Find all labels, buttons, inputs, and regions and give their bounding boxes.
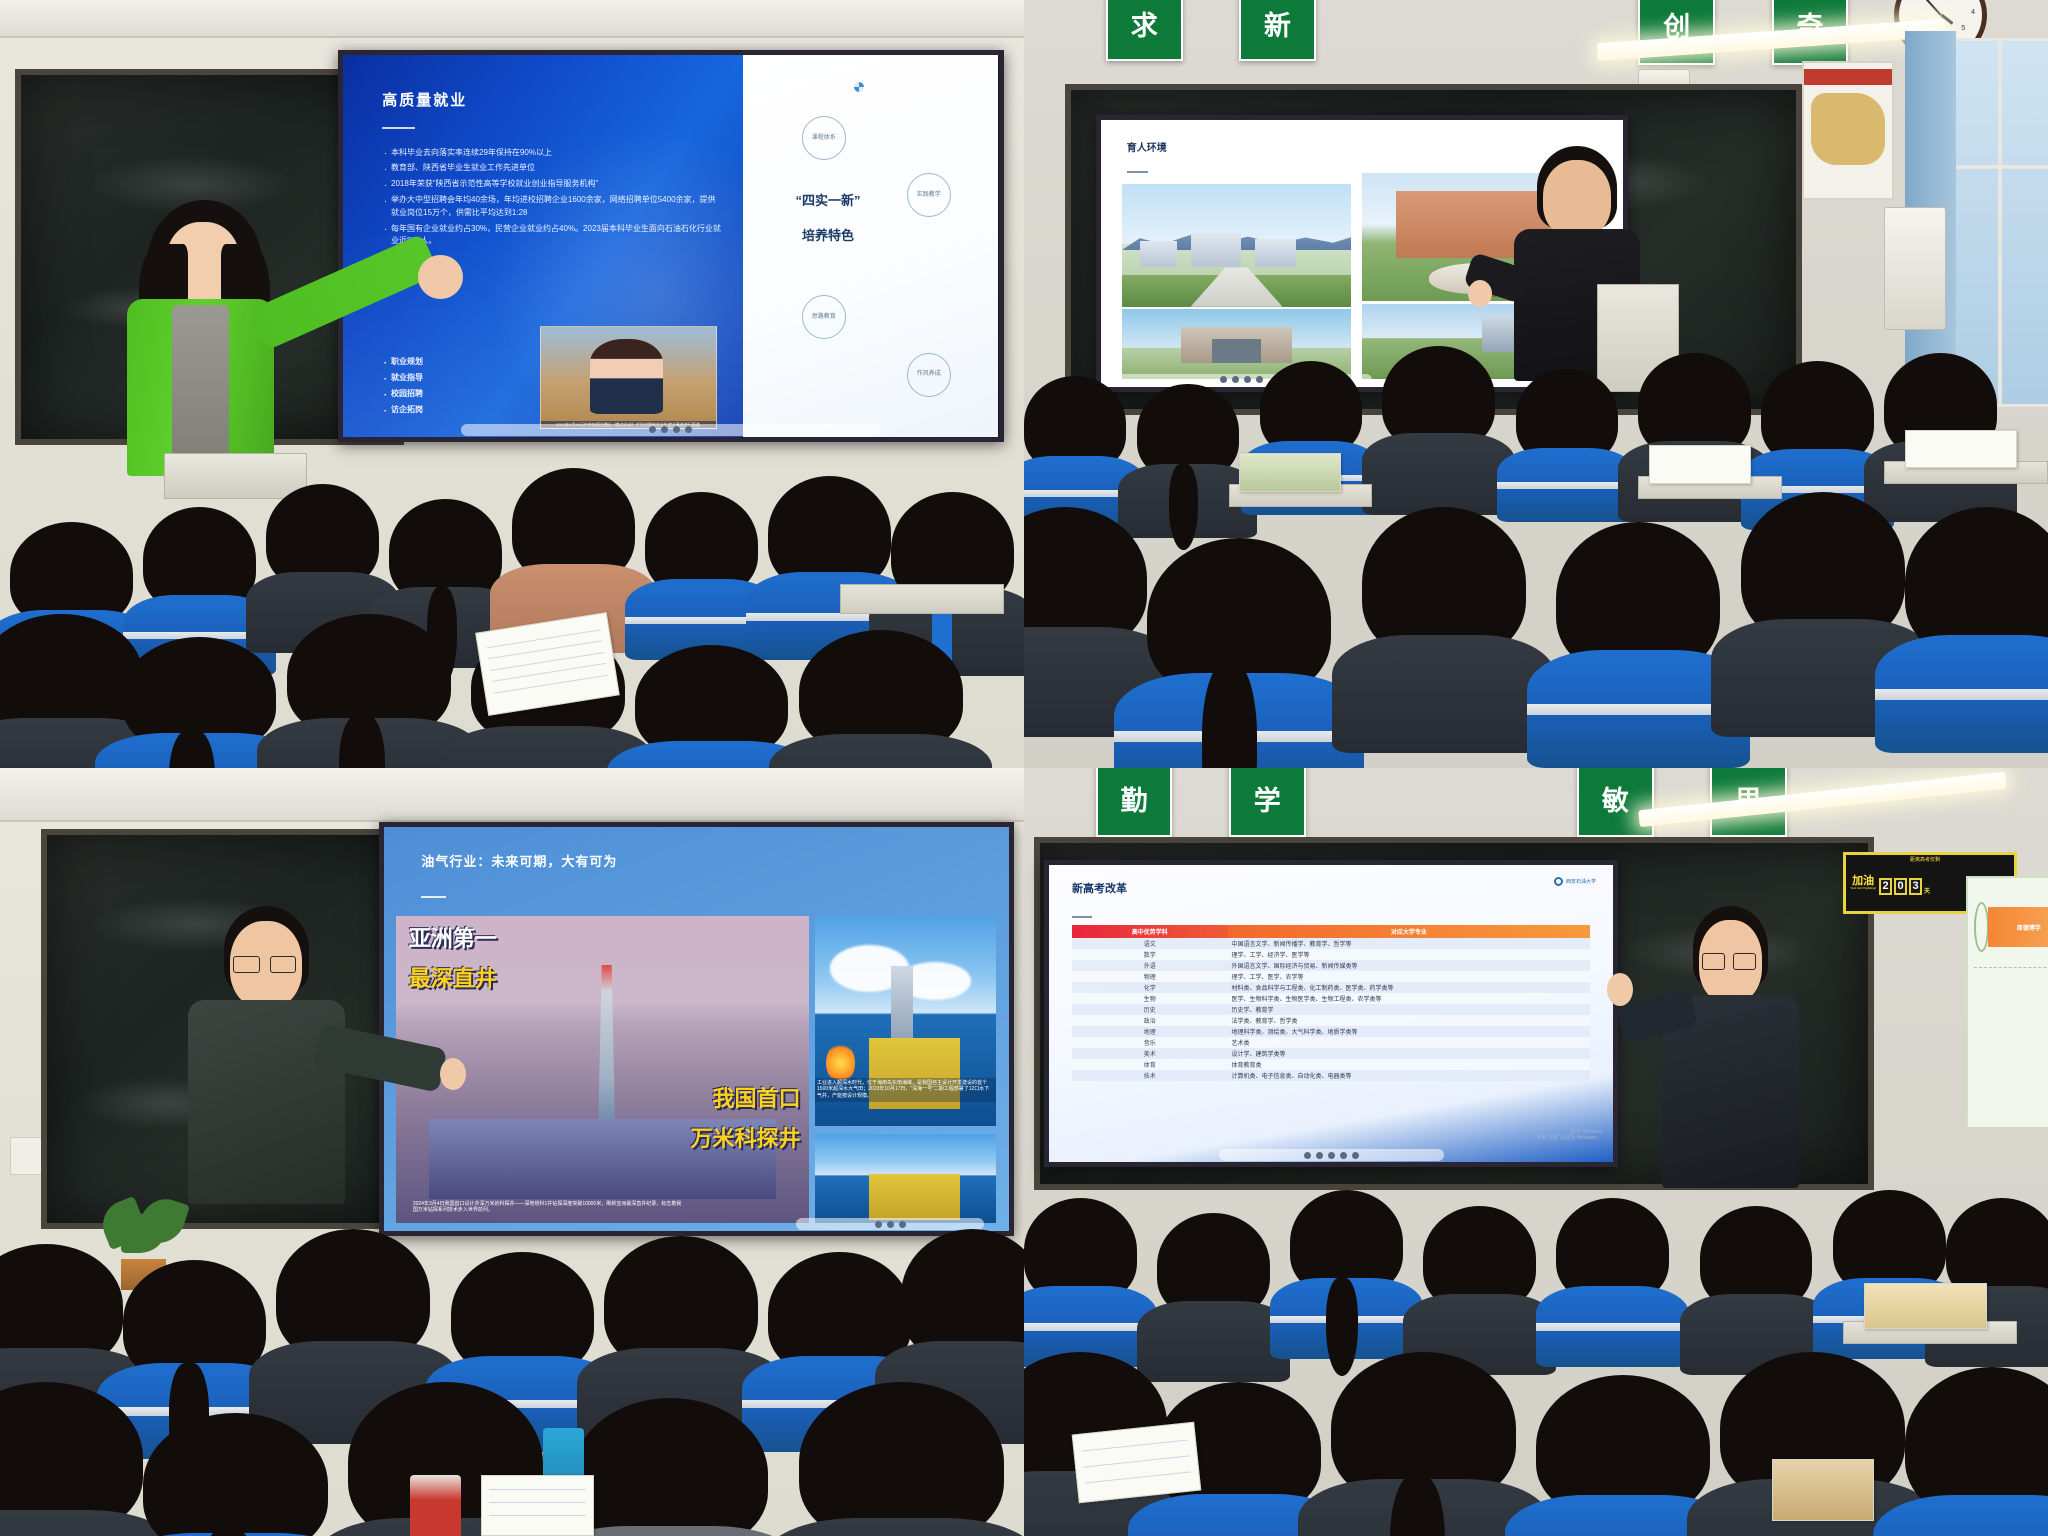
cell-subject: 化学 xyxy=(1072,982,1228,993)
bullet-item: 本科毕业去向落实率连续29年保持在90%以上 xyxy=(382,147,723,159)
news-thumbnail: 2021年5月16日中央电视台播出《焦点访谈》栏目对我校毕业生就业事迹进行报道 xyxy=(540,326,717,429)
feature-circle: 思路教育 xyxy=(802,295,846,339)
table-row: 语文中国语言文学、新闻传播学、教育学、哲学等 xyxy=(1072,938,1590,949)
eyeglasses-icon xyxy=(270,956,296,974)
cell-major: 理学、工学、经济学、医学等 xyxy=(1228,949,1591,960)
toolbar-dot-icon[interactable] xyxy=(875,1221,882,1228)
slide-title: 新高考改革 xyxy=(1072,880,1127,896)
poster-headline: 亚洲第一 xyxy=(409,928,497,950)
feature-center-line1: “四实一新” xyxy=(756,192,900,211)
honor-board-banner: 厚德博学 xyxy=(1988,907,2048,947)
table-row: 物理理学、工学、医学、农学等 xyxy=(1072,971,1590,982)
table-row: 数学理学、工学、经济学、医学等 xyxy=(1072,949,1590,960)
toolbar-dot-icon[interactable] xyxy=(673,426,680,433)
handout-paper xyxy=(1072,1422,1201,1504)
water-dispenser xyxy=(1884,207,1945,330)
subitem: 职业规划 xyxy=(382,356,526,368)
title-rule xyxy=(382,127,415,129)
wall-sign: 新 xyxy=(1239,0,1316,61)
toolbar-dot-icon[interactable] xyxy=(1244,376,1251,383)
toolbar-dot-icon[interactable] xyxy=(1352,1152,1359,1159)
handout-paper xyxy=(481,1475,594,1536)
feature-circle: 作风养成 xyxy=(907,353,951,397)
slide-title: 油气行业：未来可期，大有可为 xyxy=(421,851,617,870)
cell-major: 历史学、教育学 xyxy=(1228,1004,1591,1015)
subitem: 访企拓岗 xyxy=(382,404,526,416)
table-row: 历史历史学、教育学 xyxy=(1072,1004,1590,1015)
cell-major: 医学、生物科学类、生物医学类、生物工程类、农学类等 xyxy=(1228,993,1591,1004)
bullet-item: 2018年荣获“陕西省示范性高等学校就业创业指导服务机构” xyxy=(382,178,723,190)
subitem: 校园招聘 xyxy=(382,388,526,400)
table-row: 美术设计学、建筑学类等 xyxy=(1072,1048,1590,1059)
poster-headline: 我国首口 xyxy=(713,1088,801,1110)
cell-major: 设计学、建筑学类等 xyxy=(1228,1048,1591,1059)
poster-headline: 万米科探井 xyxy=(691,1128,801,1150)
cell-subject: 外语 xyxy=(1072,960,1228,971)
toolbar-dot-icon[interactable] xyxy=(1232,376,1239,383)
cell-subject: 政治 xyxy=(1072,1015,1228,1026)
cell-major: 体育教育类 xyxy=(1228,1059,1591,1070)
school-logo-icon xyxy=(854,82,864,92)
cell-major: 理学、工学、医学、农学等 xyxy=(1228,971,1591,982)
cell-subject: 音乐 xyxy=(1072,1037,1228,1048)
cell-major: 材料类、食品科学与工程类、化工制药类、医学类、药学类等 xyxy=(1228,982,1591,993)
window xyxy=(1946,38,2048,407)
slide-right-panel xyxy=(743,55,999,437)
panel-top-left: 高质量就业 本科毕业去向落实率连续29年保持在90%以上 教育部、陕西省毕业生就… xyxy=(0,0,1024,768)
table-row: 地理地理科学类、测绘类、大气科学类、地质学类等 xyxy=(1072,1026,1590,1037)
toolbar-dot-icon[interactable] xyxy=(649,426,656,433)
ceiling-strip xyxy=(0,768,1024,822)
poster-caption: 2024年3月4日我国首口设计井深万米的科探井——深地塔科1井钻探深度突破100… xyxy=(413,1201,685,1215)
toolbar-dot-icon[interactable] xyxy=(1304,1152,1311,1159)
title-rule xyxy=(421,896,446,898)
eyeglasses-icon xyxy=(233,956,259,974)
windows-watermark: 激活 Windows 转到“设置”以激活 Windows。 xyxy=(1537,1129,1602,1142)
wall-sign: 求 xyxy=(1106,0,1183,61)
countdown-unit: 天 xyxy=(1924,889,1930,895)
presenter-female xyxy=(102,200,307,476)
countdown-digit: 3 xyxy=(1909,878,1922,895)
school-logo-icon: 西安石油大学 xyxy=(1554,877,1596,886)
cell-subject: 生物 xyxy=(1072,993,1228,1004)
offshore-caption: 工业进入超深水时代，位于海南岛东南海域，是我国自主设计开发建设的首个1500米超… xyxy=(815,1078,996,1102)
cell-subject: 体育 xyxy=(1072,1059,1228,1070)
cell-major: 中国语言文学、新闻传播学、教育学、哲学等 xyxy=(1228,938,1591,949)
toolbar-dot-icon[interactable] xyxy=(899,1221,906,1228)
poster-headline: 最深直井 xyxy=(409,968,497,990)
feature-circle: 实践教学 xyxy=(907,173,951,217)
bullet-item: 举办大中型招聘会年均40余场，年均进校招聘企业1600余家，网络招聘单位5400… xyxy=(382,194,723,219)
table-row: 政治法学类、教育学、哲学类 xyxy=(1072,1015,1590,1026)
toolbar-dot-icon[interactable] xyxy=(1316,1152,1323,1159)
cell-major: 艺术类 xyxy=(1228,1037,1591,1048)
photo-collage: 高质量就业 本科毕业去向落实率连续29年保持在90%以上 教育部、陕西省毕业生就… xyxy=(0,0,2048,1536)
bullet-item: 每年国有企业就业约占30%，民营企业就业约占40%。2023届本科毕业生面向石油… xyxy=(382,223,723,248)
countdown-digit: 2 xyxy=(1879,878,1892,895)
projection-screen: 高质量就业 本科毕业去向落实率连续29年保持在90%以上 教育部、陕西省毕业生就… xyxy=(338,50,1004,442)
toolbar-dot-icon[interactable] xyxy=(1220,376,1227,383)
presenter-hand xyxy=(418,255,463,299)
seal-icon xyxy=(1974,902,1989,952)
wall-sign: 学 xyxy=(1229,768,1306,837)
presenter-male xyxy=(184,906,348,1198)
toolbar-dot-icon[interactable] xyxy=(661,426,668,433)
projection-screen: 新高考改革 西安石油大学 高中优势学科 对应大学专业 语文中国语言文学、新闻传播… xyxy=(1044,860,1617,1167)
ceiling-strip xyxy=(0,0,1024,38)
slide-gaokao-reform: 新高考改革 西安石油大学 高中优势学科 对应大学专业 语文中国语言文学、新闻传播… xyxy=(1049,865,1612,1162)
cell-subject: 数学 xyxy=(1072,949,1228,960)
table-row: 体育体育教育类 xyxy=(1072,1059,1590,1070)
title-rule xyxy=(1127,171,1148,173)
cell-subject: 语文 xyxy=(1072,938,1228,949)
projection-screen: 油气行业：未来可期，大有可为 亚洲第一 最深直井 我国首口 万米科探井 2024… xyxy=(379,822,1014,1237)
presenter-male xyxy=(1659,906,1802,1182)
subitem: 就业指导 xyxy=(382,372,526,384)
panel-bottom-left: 油气行业：未来可期，大有可为 亚洲第一 最深直井 我国首口 万米科探井 2024… xyxy=(0,768,1024,1536)
feature-circle: 课程体系 xyxy=(802,116,846,160)
toolbar-dot-icon[interactable] xyxy=(887,1221,894,1228)
toolbar-dot-icon[interactable] xyxy=(685,426,692,433)
slide-title: 高质量就业 xyxy=(382,89,467,110)
wall-map-poster xyxy=(1802,61,1894,199)
countdown-digit: 0 xyxy=(1894,878,1907,895)
table-row: 生物医学、生物科学类、生物医学类、生物工程类、农学类等 xyxy=(1072,993,1590,1004)
honor-board: 厚德博学 xyxy=(1966,876,2048,1129)
cell-subject: 美术 xyxy=(1072,1048,1228,1059)
eyeglasses-icon xyxy=(1702,953,1725,970)
cell-major: 计算机类、电子信息类、自动化类、电器类等 xyxy=(1228,1070,1591,1081)
campus-photo xyxy=(1122,184,1352,307)
table-row: 外语外国语言文学、国际经济与贸易、新闻传媒类等 xyxy=(1072,960,1590,971)
toolbar-dot-icon[interactable] xyxy=(1340,1152,1347,1159)
table-header-major: 对应大学专业 xyxy=(1228,925,1591,938)
cell-subject: 物理 xyxy=(1072,971,1228,982)
eyeglasses-icon xyxy=(1733,953,1756,970)
panel-bottom-right: 勤 学 敏 思 新高考改革 西安石油大学 高中优势学科 对应大学专业 xyxy=(1024,768,2048,1536)
poster-offshore-2 xyxy=(815,1134,996,1223)
cell-subject: 历史 xyxy=(1072,1004,1228,1015)
slide-subitem-list: 职业规划 就业指导 校园招聘 访企拓岗 xyxy=(382,356,526,420)
countdown-header: 距离高考仅剩 xyxy=(1910,856,1940,863)
table-header-subject: 高中优势学科 xyxy=(1072,925,1228,938)
cell-subject: 技术 xyxy=(1072,1070,1228,1081)
slide-toolbar[interactable] xyxy=(1219,1149,1444,1161)
title-rule xyxy=(1072,916,1092,918)
table-row: 音乐艺术类 xyxy=(1072,1037,1590,1048)
feature-center-line2: 培养特色 xyxy=(756,227,900,246)
student-desk xyxy=(840,584,1004,615)
bullet-item: 教育部、陕西省毕业生就业工作先进单位 xyxy=(382,162,723,174)
textbook xyxy=(1772,1459,1874,1520)
cell-major: 外国语言文学、国际经济与贸易、新闻传媒类等 xyxy=(1228,960,1591,971)
notebook xyxy=(1905,430,2018,468)
notebook xyxy=(1649,445,1751,483)
slide-toolbar[interactable] xyxy=(461,424,881,436)
subject-major-table: 高中优势学科 对应大学专业 语文中国语言文学、新闻传播学、教育学、哲学等 数学理… xyxy=(1072,925,1590,1081)
thermos-cup xyxy=(410,1475,461,1536)
slide-oil-industry: 油气行业：未来可期，大有可为 亚洲第一 最深直井 我国首口 万米科探井 2024… xyxy=(384,827,1009,1232)
stacked-books xyxy=(1239,453,1341,491)
toolbar-dot-icon[interactable] xyxy=(1328,1152,1335,1159)
slide-title: 育人环境 xyxy=(1127,139,1167,154)
cheer-sublabel: Yes! Go! Fighting! xyxy=(1850,887,1876,890)
textbook-stack xyxy=(1864,1283,1987,1329)
clock-number: 5 xyxy=(1961,25,1965,32)
clock-number: 4 xyxy=(1971,9,1975,16)
table-row: 化学材料类、食品科学与工程类、化工制药类、医学类、药学类等 xyxy=(1072,982,1590,993)
cell-major: 地理科学类、测绘类、大气科学类、地质学类等 xyxy=(1228,1026,1591,1037)
cell-major: 法学类、教育学、哲学类 xyxy=(1228,1015,1591,1026)
slide-bullet-list: 本科毕业去向落实率连续29年保持在90%以上 教育部、陕西省毕业生就业工作先进单… xyxy=(382,147,723,252)
cell-subject: 地理 xyxy=(1072,1026,1228,1037)
wall-sign: 勤 xyxy=(1096,768,1173,837)
panel-top-right: 求 新 创 奇 4 5 6 7 育人环境 xyxy=(1024,0,2048,768)
table-row: 技术计算机类、电子信息类、自动化类、电器类等 xyxy=(1072,1070,1590,1081)
watermark-line2: 转到“设置”以激活 Windows。 xyxy=(1537,1135,1602,1141)
